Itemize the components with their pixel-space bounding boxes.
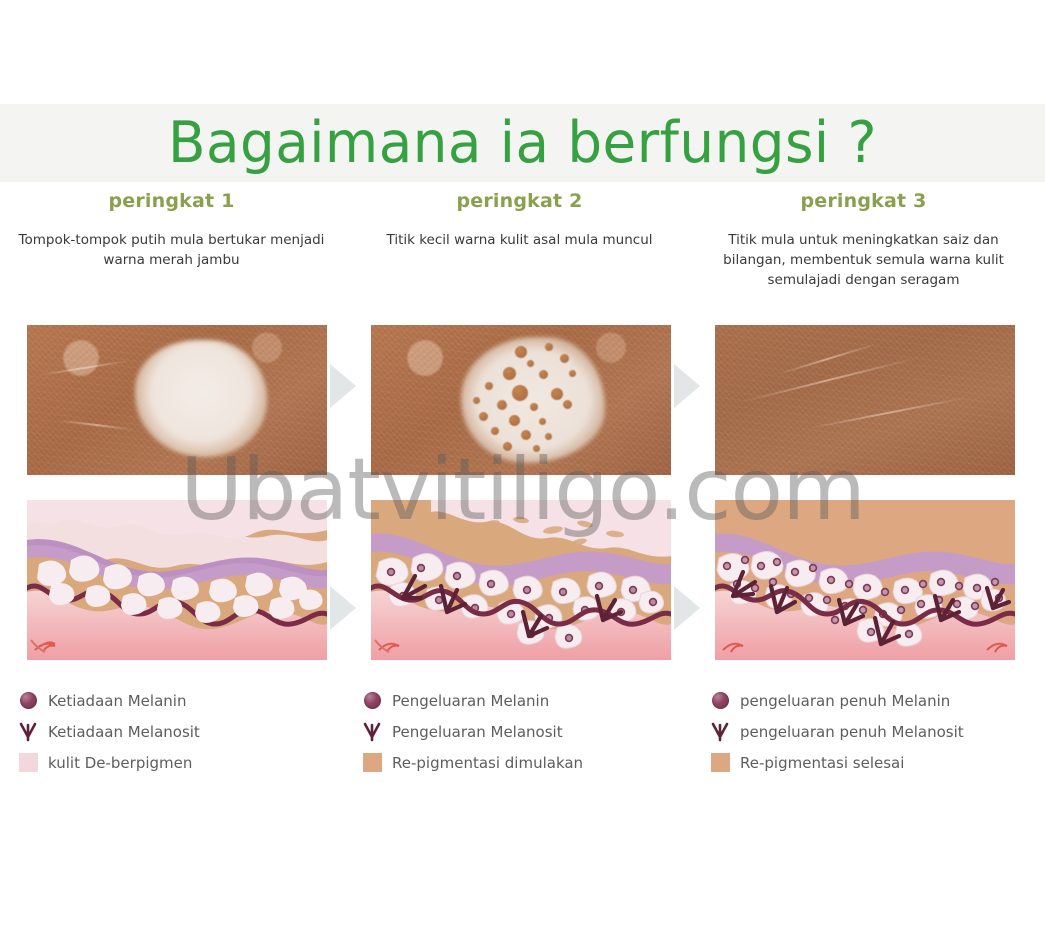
color-swatch-icon [359,752,385,774]
page-title: Bagaimana ia berfungsi ? [21,110,1024,176]
stage-column-2: peringkat 2 Titik kecil warna kulit asal… [353,190,686,290]
melanocyte-arrow-icon [707,721,733,743]
stage-columns: peringkat 1 Tompok-tompok putih mula ber… [0,190,1045,790]
stage-3-title: peringkat 3 [697,190,1030,216]
stage-1-description: Tompok-tompok putih mula bertukar menjad… [11,230,332,290]
melanocyte-arrow-icon [359,721,385,743]
stage-column-3: peringkat 3 Titik mula untuk meningkatka… [697,190,1030,290]
legend-item: Re-pigmentasi dimulakan [359,747,689,778]
legend-item: Ketiadaan Melanosit [15,716,345,747]
legend-item: pengeluaran penuh Melanin [707,685,1037,716]
stage-column-1: peringkat 1 Tompok-tompok putih mula ber… [5,190,338,290]
legend-item: kulit De-berpigmen [15,747,345,778]
stage-2-description: Titik kecil warna kulit asal mula muncul [359,230,680,290]
legend-item: Ketiadaan Melanin [15,685,345,716]
stage-3-cross-section-diagram [715,500,1015,660]
legend-label: Ketiadaan Melanosit [48,723,200,741]
melanin-sphere-icon [359,690,385,712]
stage-3-description: Titik mula untuk meningkatkan saiz dan b… [703,230,1024,290]
stage-2-title: peringkat 2 [353,190,686,216]
legend-item: Pengeluaran Melanosit [359,716,689,747]
melanin-sphere-icon [707,690,733,712]
legend-label: Re-pigmentasi dimulakan [392,754,583,772]
legend-item: Re-pigmentasi selesai [707,747,1037,778]
stage-1-cross-section-diagram [27,500,327,660]
melanocyte-arrow-icon [15,721,41,743]
color-swatch-icon [15,752,41,774]
legend-label: pengeluaran penuh Melanosit [740,723,964,741]
next-stage-arrow [330,586,356,630]
stage-1-photo [27,325,327,475]
legend-label: Pengeluaran Melanosit [392,723,563,741]
legend-label: Re-pigmentasi selesai [740,754,904,772]
next-stage-arrow [674,364,700,408]
legend-item: pengeluaran penuh Melanosit [707,716,1037,747]
legend-label: Ketiadaan Melanin [48,692,186,710]
next-stage-arrow [330,364,356,408]
legend-label: pengeluaran penuh Melanin [740,692,950,710]
stage-2-photo [371,325,671,475]
stage-2-cross-section-diagram [371,500,671,660]
next-stage-arrow [674,586,700,630]
how-it-works-infographic: Bagaimana ia berfungsi ? peringkat 1 Tom… [0,0,1045,930]
stage-3-legend: pengeluaran penuh Melanin pengeluaran pe… [707,685,1037,778]
stage-1-legend: Ketiadaan Melanin Ketiadaan Melanosit ku… [15,685,345,778]
stage-2-legend: Pengeluaran Melanin Pengeluaran Melanosi… [359,685,689,778]
legend-item: Pengeluaran Melanin [359,685,689,716]
legend-label: Pengeluaran Melanin [392,692,549,710]
legend-label: kulit De-berpigmen [48,754,192,772]
stage-3-photo [715,325,1015,475]
color-swatch-icon [707,752,733,774]
melanin-sphere-icon [15,690,41,712]
stage-1-title: peringkat 1 [5,190,338,216]
